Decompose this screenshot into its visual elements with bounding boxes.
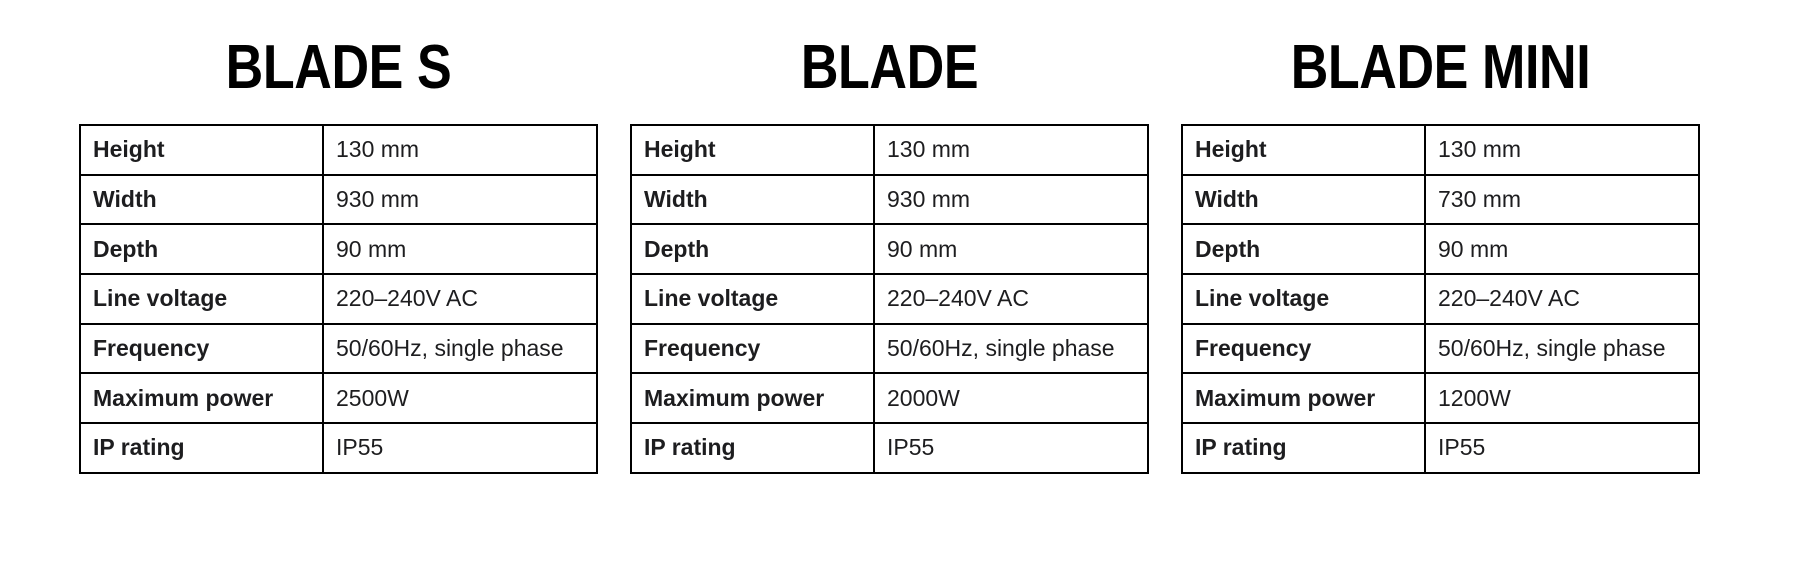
spec-label: IP rating [1182,423,1425,473]
spec-value: 50/60Hz, single phase [1425,324,1699,374]
table-row: Maximum power 2000W [631,373,1148,423]
spec-label: Frequency [1182,324,1425,374]
spec-value: 130 mm [1425,125,1699,175]
spec-label: Width [1182,175,1425,225]
spec-label: Width [631,175,874,225]
spec-value: 220–240V AC [1425,274,1699,324]
table-row: IP rating IP55 [631,423,1148,473]
table-row: Width 730 mm [1182,175,1699,225]
spec-label: IP rating [80,423,323,473]
table-row: Depth 90 mm [80,224,597,274]
spec-value: 1200W [1425,373,1699,423]
spec-label: Height [1182,125,1425,175]
product-title: BLADE S [121,0,557,124]
spec-table: Height 130 mm Width 730 mm Depth 90 mm L… [1181,124,1700,474]
table-row: Line voltage 220–240V AC [631,274,1148,324]
table-row: Height 130 mm [631,125,1148,175]
spec-value: 130 mm [323,125,597,175]
table-row: Width 930 mm [80,175,597,225]
table-row: IP rating IP55 [80,423,597,473]
table-row: Depth 90 mm [1182,224,1699,274]
spec-label: Maximum power [80,373,323,423]
table-row: Height 130 mm [80,125,597,175]
spec-column-blade: BLADE Height 130 mm Width 930 mm Depth 9… [630,0,1149,474]
spec-value: 130 mm [874,125,1148,175]
spec-label: Line voltage [631,274,874,324]
spec-value: 930 mm [874,175,1148,225]
table-row: Frequency 50/60Hz, single phase [80,324,597,374]
spec-label: Frequency [631,324,874,374]
spec-value: IP55 [874,423,1148,473]
spec-value: 90 mm [1425,224,1699,274]
table-row: Height 130 mm [1182,125,1699,175]
spec-value: 2000W [874,373,1148,423]
spec-value: 90 mm [323,224,597,274]
spec-label: Depth [1182,224,1425,274]
table-row: Depth 90 mm [631,224,1148,274]
spec-column-blade-s: BLADE S Height 130 mm Width 930 mm Depth… [79,0,598,474]
spec-value: 220–240V AC [323,274,597,324]
product-title: BLADE [672,0,1108,124]
table-row: Width 930 mm [631,175,1148,225]
spec-label: IP rating [631,423,874,473]
spec-value: IP55 [323,423,597,473]
spec-table: Height 130 mm Width 930 mm Depth 90 mm L… [630,124,1149,474]
spec-column-blade-mini: BLADE MINI Height 130 mm Width 730 mm De… [1181,0,1700,474]
spec-label: Height [80,125,323,175]
spec-label: Maximum power [631,373,874,423]
table-row: IP rating IP55 [1182,423,1699,473]
spec-label: Line voltage [80,274,323,324]
table-row: Line voltage 220–240V AC [80,274,597,324]
spec-value: 50/60Hz, single phase [323,324,597,374]
table-row: Maximum power 2500W [80,373,597,423]
spec-label: Depth [631,224,874,274]
spec-value: 930 mm [323,175,597,225]
spec-label: Line voltage [1182,274,1425,324]
table-row: Frequency 50/60Hz, single phase [631,324,1148,374]
spec-value: 220–240V AC [874,274,1148,324]
spec-value: 90 mm [874,224,1148,274]
product-title: BLADE MINI [1223,0,1659,124]
spec-value: 730 mm [1425,175,1699,225]
spec-label: Maximum power [1182,373,1425,423]
spec-label: Frequency [80,324,323,374]
spec-label: Width [80,175,323,225]
spec-table: Height 130 mm Width 930 mm Depth 90 mm L… [79,124,598,474]
spec-value: 2500W [323,373,597,423]
table-row: Frequency 50/60Hz, single phase [1182,324,1699,374]
spec-label: Depth [80,224,323,274]
spec-value: 50/60Hz, single phase [874,324,1148,374]
table-row: Line voltage 220–240V AC [1182,274,1699,324]
spec-value: IP55 [1425,423,1699,473]
spec-comparison-sheet: BLADE S Height 130 mm Width 930 mm Depth… [0,0,1813,474]
spec-label: Height [631,125,874,175]
table-row: Maximum power 1200W [1182,373,1699,423]
